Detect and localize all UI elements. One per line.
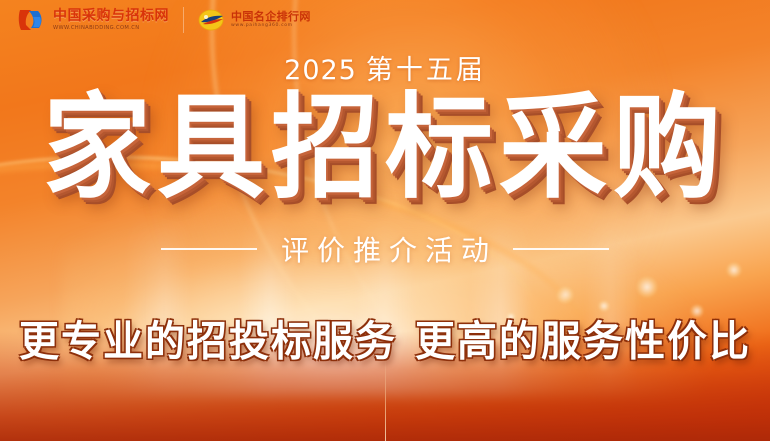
- event-banner: 中国采购与招标网 WWW.CHINABIDDING.COM.CN 中国名企排行网…: [0, 0, 770, 441]
- subtitle-rule-left: [161, 248, 257, 250]
- tagline: 更专业的招投标服务更高的服务性价比: [19, 308, 751, 368]
- logo-bar: 中国采购与招标网 WWW.CHINABIDDING.COM.CN 中国名企排行网…: [18, 7, 311, 33]
- logo-china-ranking-text: 中国名企排行网 www.paihang360.com: [231, 11, 311, 29]
- sun-emblem-icon: [198, 9, 226, 31]
- tagline-left: 更专业的招投标服务: [19, 318, 397, 366]
- logo-china-ranking[interactable]: 中国名企排行网 www.paihang360.com: [198, 9, 311, 31]
- year-edition-line: 2025第十五届: [284, 48, 486, 87]
- subtitle: 评价推介活动: [273, 229, 497, 269]
- subtitle-row: 评价推介活动: [161, 229, 609, 269]
- logo-china-bidding-name: 中国采购与招标网: [53, 9, 169, 23]
- logo-china-bidding-text: 中国采购与招标网 WWW.CHINABIDDING.COM.CN: [53, 9, 169, 31]
- tagline-right: 更高的服务性价比: [415, 318, 751, 366]
- subtitle-rule-right: [513, 248, 609, 250]
- banner-content: 2025第十五届 家具招标采购 评价推介活动 更专业的招投标服务更高的服务性价比: [0, 0, 770, 441]
- logo-china-ranking-name: 中国名企排行网: [231, 11, 311, 22]
- logo-china-ranking-url: www.paihang360.com: [231, 24, 311, 29]
- logo-china-bidding-url: WWW.CHINABIDDING.COM.CN: [53, 26, 169, 31]
- red-blue-swoosh-icon: [18, 8, 48, 32]
- page-title: 家具招标采购: [43, 92, 727, 206]
- logo-divider: [183, 7, 184, 33]
- logo-china-bidding[interactable]: 中国采购与招标网 WWW.CHINABIDDING.COM.CN: [18, 8, 169, 32]
